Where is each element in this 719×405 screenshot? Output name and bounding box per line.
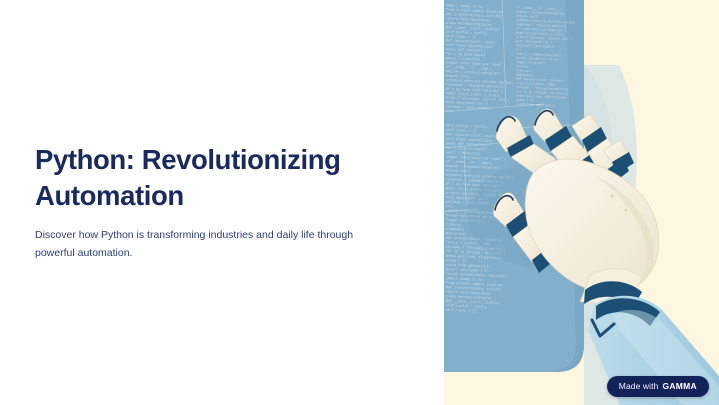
robotic-hand-illustration: import numpy as npfrom sklearn import pi… — [444, 0, 719, 405]
code-line: try: — [446, 204, 454, 209]
slide-text-pane: Python: Revolutionizing Automation Disco… — [0, 0, 444, 405]
presentation-slide: Python: Revolutionizing Automation Disco… — [0, 0, 719, 405]
slide-title: Python: Revolutionizing Automation — [35, 142, 405, 214]
code-line: cache = {} — [516, 98, 534, 103]
badge-made-with-label: Made with — [619, 382, 659, 391]
code-line: try: — [446, 109, 454, 114]
made-with-gamma-badge[interactable]: Made with GAMMA — [607, 376, 709, 397]
code-line: @decorator — [516, 72, 534, 77]
code-line: cleanup() — [516, 68, 532, 73]
code-line: finally: — [516, 64, 531, 69]
slide-illustration: import numpy as npfrom sklearn import pi… — [444, 0, 719, 405]
code-line: try: — [516, 48, 523, 51]
badge-brand-label: GAMMA — [662, 382, 697, 391]
slide-subtitle: Discover how Python is transforming indu… — [35, 226, 387, 262]
